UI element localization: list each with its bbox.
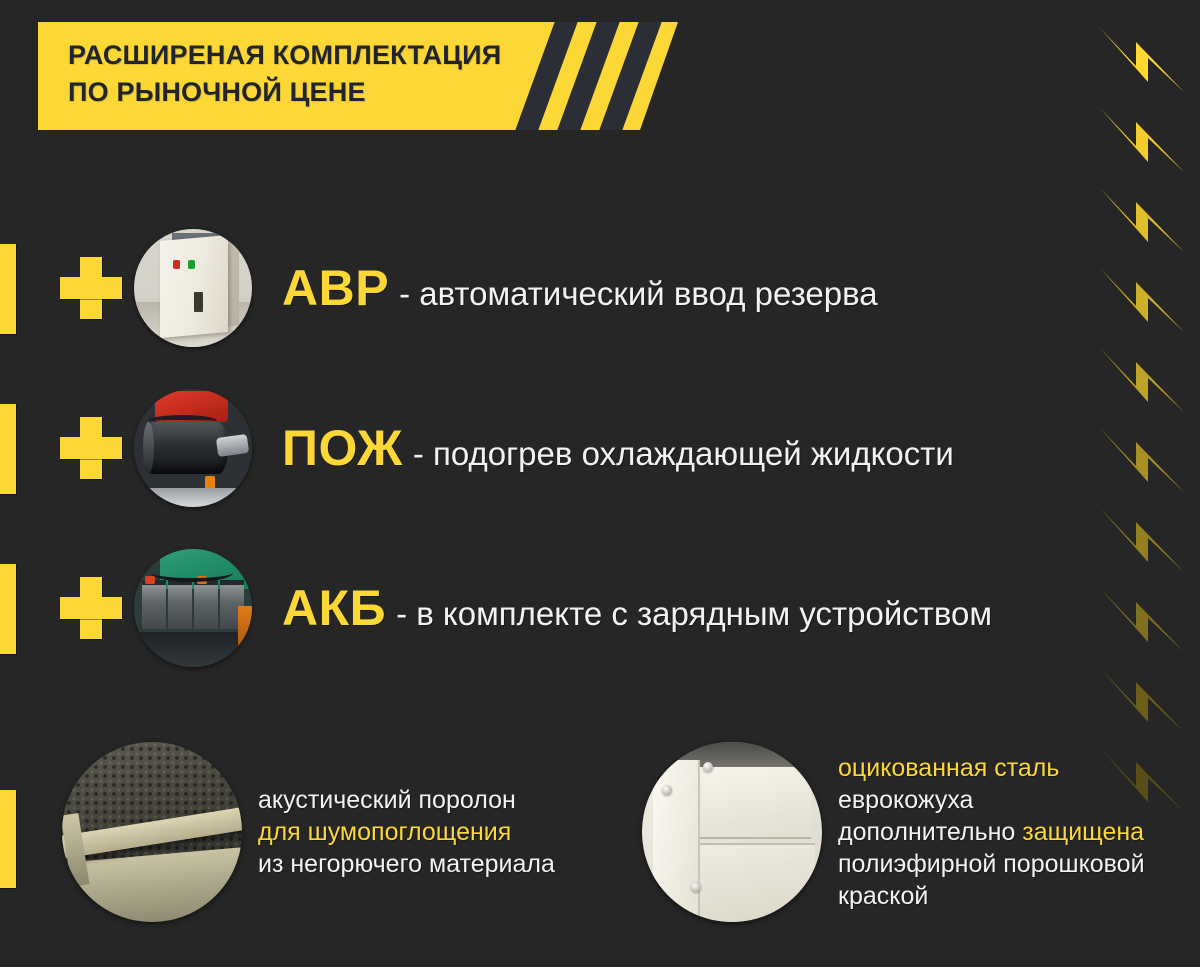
feature-row-pozh: ПОЖ - подогрев охлаждающей жидкости <box>60 383 954 513</box>
caption-part: дополнительно <box>838 818 1022 846</box>
feature-text-avr: АВР - автоматический ввод резерва <box>282 259 878 317</box>
plus-icon <box>60 257 122 319</box>
bottom-block-steel: оцикованная сталь еврокожуха дополнитель… <box>642 742 1145 922</box>
feature-abbr-pozh: ПОЖ <box>282 419 403 477</box>
plus-icon <box>60 577 122 639</box>
left-accent-tab-2 <box>0 404 16 494</box>
left-accent-tab-1 <box>0 244 16 334</box>
photo-acoustic-foam <box>62 742 242 922</box>
header-banner: РАСШИРЕНАЯ КОМПЛЕКТАЦИЯ ПО РЫНОЧНОЙ ЦЕНЕ <box>38 22 678 130</box>
caption-foam: акустический поролон для шумопоглощения … <box>258 784 555 880</box>
photo-avr-cabinet <box>134 229 252 347</box>
photo-akb-batteries <box>134 549 252 667</box>
feature-abbr-avr: АВР <box>282 259 389 317</box>
feature-abbr-akb: АКБ <box>282 579 386 637</box>
photo-pozh-heater <box>134 389 252 507</box>
banner-stripes <box>478 22 678 130</box>
slide-root: РАСШИРЕНАЯ КОМПЛЕКТАЦИЯ ПО РЫНОЧНОЙ ЦЕНЕ <box>0 0 1200 967</box>
caption-line-highlight: для шумопоглощения <box>258 816 555 848</box>
lightning-bolt-column <box>1088 0 1200 967</box>
caption-line: из негорючего материала <box>258 848 555 880</box>
plus-icon <box>60 417 122 479</box>
bottom-block-foam: акустический поролон для шумопоглощения … <box>62 742 555 922</box>
feature-row-avr: АВР - автоматический ввод резерва <box>60 223 878 353</box>
lightning-bolt-icon <box>1092 740 1192 840</box>
left-accent-tab-4 <box>0 790 16 888</box>
feature-desc-avr: - автоматический ввод резерва <box>399 275 878 313</box>
feature-text-akb: АКБ - в комплекте с зарядным устройством <box>282 579 992 637</box>
caption-line: акустический поролон <box>258 784 555 816</box>
photo-galvanized-steel <box>642 742 822 922</box>
feature-text-pozh: ПОЖ - подогрев охлаждающей жидкости <box>282 419 954 477</box>
feature-row-akb: АКБ - в комплекте с зарядным устройством <box>60 543 992 673</box>
page-title: РАСШИРЕНАЯ КОМПЛЕКТАЦИЯ ПО РЫНОЧНОЙ ЦЕНЕ <box>68 37 501 110</box>
feature-desc-akb: - в комплекте с зарядным устройством <box>396 595 992 633</box>
left-accent-tab-3 <box>0 564 16 654</box>
feature-desc-pozh: - подогрев охлаждающей жидкости <box>413 435 954 473</box>
